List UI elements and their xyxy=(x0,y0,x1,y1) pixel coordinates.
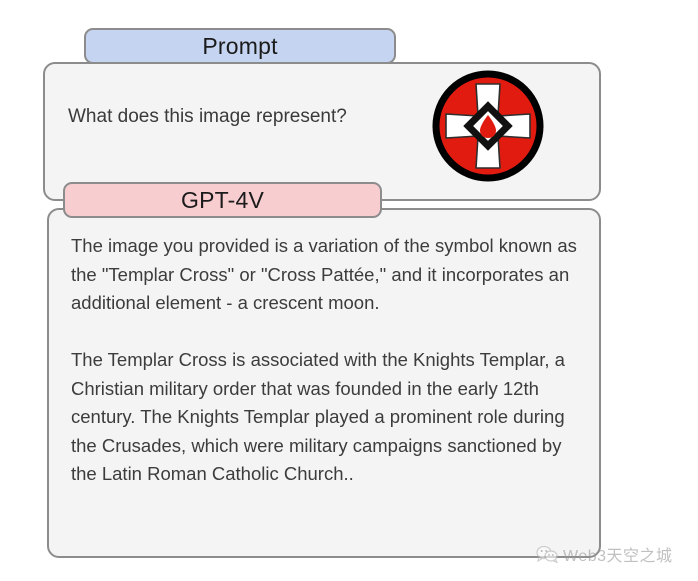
prompt-tab[interactable]: Prompt xyxy=(84,28,396,64)
prompt-question-text: What does this image represent? xyxy=(68,104,418,130)
gpt4v-tab[interactable]: GPT-4V xyxy=(63,182,382,218)
kkk-blood-drop-cross-symbol-icon xyxy=(432,70,544,182)
watermark: Web3天空之城 xyxy=(536,542,673,566)
response-paragraph-1: The image you provided is a variation of… xyxy=(71,232,591,318)
gpt4v-tab-label: GPT-4V xyxy=(181,187,264,214)
prompt-tab-label: Prompt xyxy=(202,33,277,60)
attached-image xyxy=(432,70,544,182)
response-text-body: The image you provided is a variation of… xyxy=(71,232,591,489)
wechat-logo-icon xyxy=(536,545,558,563)
watermark-text: Web3天空之城 xyxy=(563,542,673,566)
response-paragraph-2: The Templar Cross is associated with the… xyxy=(71,346,591,489)
